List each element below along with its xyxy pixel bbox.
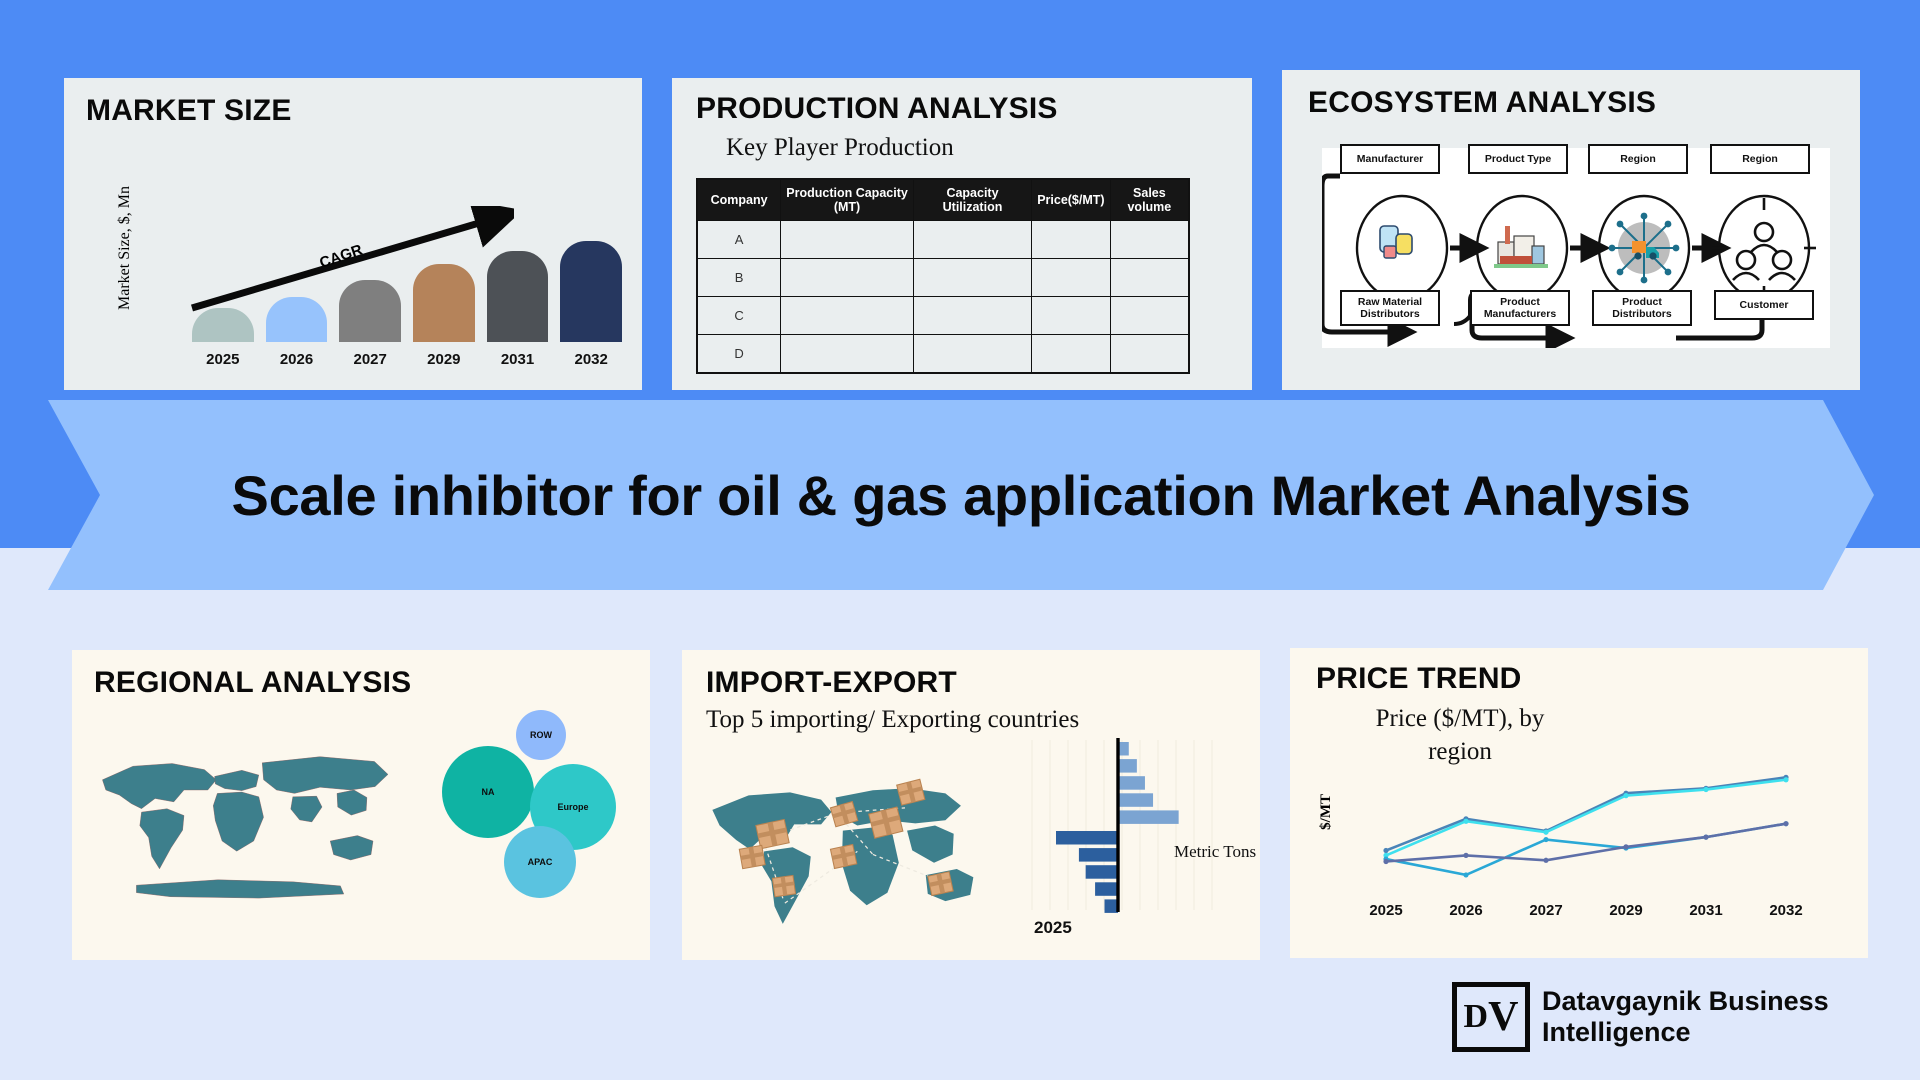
table-cell-sales[interactable]: [1110, 259, 1189, 297]
price-trend-line-chart: [1346, 766, 1826, 896]
x-tick-2029: 2029: [1586, 902, 1666, 919]
tornado-axis-label: Metric Tons: [1174, 842, 1256, 862]
x-tick-2031: 2031: [487, 351, 549, 368]
price-point: [1463, 872, 1468, 877]
bar-2026: [266, 297, 328, 342]
infographic-root: MARKET SIZE Market Size, $, Mn 202520262…: [0, 0, 1920, 1080]
table-row: A: [697, 221, 1189, 259]
price-point: [1543, 837, 1548, 842]
price-trend-x-labels: 202520262027202920312032: [1346, 902, 1826, 919]
x-tick-2026: 2026: [1426, 902, 1506, 919]
tornado-year-label: 2025: [1034, 918, 1072, 938]
x-tick-2032: 2032: [560, 351, 622, 368]
price-point: [1543, 858, 1548, 863]
import-export-tornado-chart: [1022, 736, 1222, 916]
bar-2027: [339, 280, 401, 342]
main-title-banner: Scale inhibitor for oil & gas applicatio…: [48, 400, 1874, 590]
import-export-subtitle: Top 5 importing/ Exporting countries: [706, 706, 1079, 734]
column-header: Capacity Utilization: [913, 179, 1031, 221]
market-size-chart: 202520262027202920312032: [192, 228, 622, 368]
market-size-bar: [413, 264, 475, 342]
logo-line-1: Datavgaynik Business: [1542, 986, 1829, 1017]
price-point: [1703, 835, 1708, 840]
bar-2025: [192, 308, 254, 342]
column-header: Price($/MT): [1032, 179, 1111, 221]
table-cell-sales[interactable]: [1110, 297, 1189, 335]
price-point: [1623, 844, 1628, 849]
column-header: Company: [697, 179, 781, 221]
bar-2031: [487, 251, 549, 342]
x-tick-2032: 2032: [1746, 902, 1826, 919]
trade-routes-map-icon: [702, 746, 992, 936]
region-bubble-chart: NAEuropeROWAPAC: [442, 710, 632, 910]
import-bar: [1118, 810, 1179, 824]
table-cell-utilization[interactable]: [913, 259, 1031, 297]
market-size-bar: [487, 251, 549, 342]
price-trend-subtitle: Price ($/MT), by region: [1360, 702, 1560, 768]
market-size-bar: [560, 241, 622, 342]
eco-box-product-distributors: Product Distributors: [1592, 290, 1692, 326]
ecosystem-title: ECOSYSTEM ANALYSIS: [1308, 86, 1656, 120]
export-bar: [1105, 899, 1118, 913]
panel-market-size: MARKET SIZE Market Size, $, Mn 202520262…: [64, 78, 642, 390]
bar-2032: [560, 241, 622, 342]
distribution-network-icon: [1609, 213, 1680, 284]
production-title: PRODUCTION ANALYSIS: [696, 92, 1058, 126]
price-point: [1463, 819, 1468, 824]
price-point: [1783, 821, 1788, 826]
market-size-bars: [192, 230, 622, 342]
panel-production-analysis: PRODUCTION ANALYSIS Key Player Productio…: [672, 78, 1252, 390]
table-cell-capacity[interactable]: [781, 259, 914, 297]
price-trend-title: PRICE TREND: [1316, 662, 1522, 696]
table-cell-capacity[interactable]: [781, 221, 914, 259]
import-bar: [1118, 793, 1153, 807]
table-cell-company[interactable]: C: [697, 297, 781, 335]
export-bar: [1056, 831, 1118, 845]
table-cell-utilization[interactable]: [913, 297, 1031, 335]
panel-price-trend: PRICE TREND Price ($/MT), by region $/MT…: [1290, 648, 1868, 958]
price-point: [1383, 848, 1388, 853]
import-bar: [1118, 759, 1137, 773]
table-cell-utilization[interactable]: [913, 335, 1031, 373]
market-size-title: MARKET SIZE: [86, 94, 292, 128]
region-bubble-apac[interactable]: APAC: [504, 826, 576, 898]
regional-title: REGIONAL ANALYSIS: [94, 666, 411, 700]
table-cell-company[interactable]: A: [697, 221, 781, 259]
eco-box-region-1: Region: [1588, 144, 1688, 174]
logo-letter-d: D: [1464, 1000, 1489, 1034]
table-cell-price[interactable]: [1032, 335, 1111, 373]
price-trend-y-axis-label: $/MT: [1318, 794, 1335, 830]
eco-box-raw-material-distributors: Raw Material Distributors: [1340, 290, 1440, 326]
eco-box-region-2: Region: [1710, 144, 1810, 174]
company-logo: DV Datavgaynik Business Intelligence: [1452, 982, 1829, 1052]
eco-box-product-manufacturers: Product Manufacturers: [1470, 290, 1570, 326]
import-bar: [1118, 776, 1145, 790]
table-row: B: [697, 259, 1189, 297]
table-cell-price[interactable]: [1032, 297, 1111, 335]
panel-regional-analysis: REGIONAL ANALYSIS NAEuropeROWAPAC: [72, 650, 650, 960]
ecosystem-diagram: Manufacturer Product Type Region Region …: [1322, 148, 1830, 348]
price-point: [1543, 830, 1548, 835]
market-size-bar: [266, 297, 328, 342]
page-title: Scale inhibitor for oil & gas applicatio…: [232, 463, 1691, 528]
logo-line-2: Intelligence: [1542, 1017, 1829, 1048]
x-tick-2027: 2027: [1506, 902, 1586, 919]
market-size-x-labels: 202520262027202920312032: [192, 351, 622, 368]
x-tick-2025: 2025: [1346, 902, 1426, 919]
table-cell-sales[interactable]: [1110, 335, 1189, 373]
x-tick-2027: 2027: [339, 351, 401, 368]
table-cell-price[interactable]: [1032, 221, 1111, 259]
price-line-region-3: [1386, 824, 1786, 875]
table-body: ABCD: [697, 221, 1189, 373]
market-size-bar: [339, 280, 401, 342]
world-map-icon: [82, 714, 422, 934]
price-point: [1783, 777, 1788, 782]
market-size-y-axis-label: Market Size, $, Mn: [116, 186, 134, 310]
bar-2029: [413, 264, 475, 342]
region-bubble-na[interactable]: NA: [442, 746, 534, 838]
import-export-title: IMPORT-EXPORT: [706, 666, 957, 700]
table-row: C: [697, 297, 1189, 335]
x-tick-2029: 2029: [413, 351, 475, 368]
eco-box-customer: Customer: [1714, 290, 1814, 320]
x-tick-2026: 2026: [266, 351, 328, 368]
table-cell-utilization[interactable]: [913, 221, 1031, 259]
price-point: [1463, 853, 1468, 858]
eco-box-product-type: Product Type: [1468, 144, 1568, 174]
region-bubble-row[interactable]: ROW: [516, 710, 566, 760]
price-point: [1623, 793, 1628, 798]
panel-ecosystem-analysis: ECOSYSTEM ANALYSIS: [1282, 70, 1860, 390]
market-size-bar: [192, 308, 254, 342]
table-cell-price[interactable]: [1032, 259, 1111, 297]
table-cell-sales[interactable]: [1110, 221, 1189, 259]
table-cell-company[interactable]: D: [697, 335, 781, 373]
logo-wordmark: Datavgaynik Business Intelligence: [1542, 986, 1829, 1049]
panel-import-export: IMPORT-EXPORT Top 5 importing/ Exporting…: [682, 650, 1260, 960]
key-player-production-table: CompanyProduction Capacity(MT)Capacity U…: [696, 178, 1190, 374]
column-header: Sales volume: [1110, 179, 1189, 221]
dv-monogram-icon: DV: [1452, 982, 1530, 1052]
table-cell-company[interactable]: B: [697, 259, 781, 297]
table-header-row: CompanyProduction Capacity(MT)Capacity U…: [697, 179, 1189, 221]
export-bar: [1095, 882, 1118, 896]
export-bar: [1079, 848, 1118, 862]
table-row: D: [697, 335, 1189, 373]
column-header: Production Capacity(MT): [781, 179, 914, 221]
table-cell-capacity[interactable]: [781, 335, 914, 373]
export-bar: [1086, 865, 1118, 879]
production-subtitle: Key Player Production: [726, 134, 954, 162]
logo-letter-v: V: [1488, 996, 1518, 1038]
eco-box-manufacturer: Manufacturer: [1340, 144, 1440, 174]
table-cell-capacity[interactable]: [781, 297, 914, 335]
x-tick-2025: 2025: [192, 351, 254, 368]
x-tick-2031: 2031: [1666, 902, 1746, 919]
price-point: [1703, 787, 1708, 792]
price-point: [1383, 859, 1388, 864]
